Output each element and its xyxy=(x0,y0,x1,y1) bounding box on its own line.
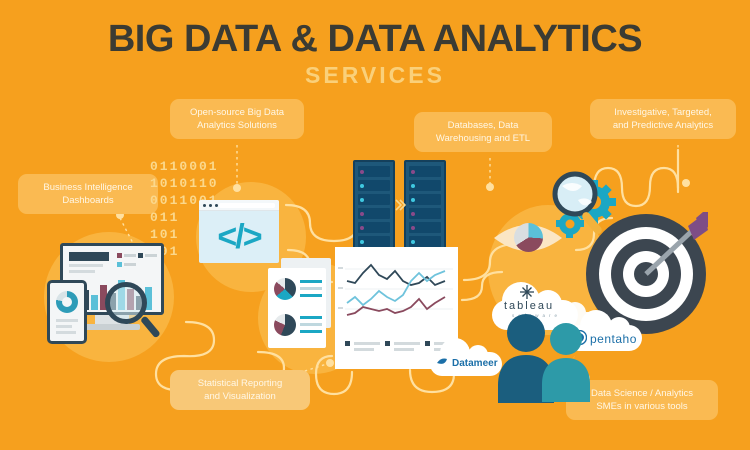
infographic-canvas: BIG DATA & DATA ANALYTICS SERVICES xyxy=(0,0,750,450)
server-slot xyxy=(358,180,390,191)
datameer-logo-text: Datameer xyxy=(452,358,498,369)
legend-text xyxy=(145,254,157,257)
server-slot xyxy=(409,180,441,191)
callout-statistical-reporting[interactable]: Statistical Reporting and Visualization xyxy=(170,370,310,410)
browser-title-bar xyxy=(199,200,279,211)
series-navy xyxy=(347,265,445,285)
code-editor-window: </> xyxy=(199,200,279,263)
callout-line1: Databases, Data xyxy=(423,119,543,132)
sub-title: SERVICES xyxy=(0,64,750,87)
sheet-text-line xyxy=(300,287,322,290)
callout-line1: Statistical Reporting xyxy=(179,377,301,390)
main-title: BIG DATA & DATA ANALYTICS xyxy=(0,20,750,58)
code-brackets-icon: </> xyxy=(199,211,279,263)
chart-legend-swatch xyxy=(345,341,350,346)
tablet-device xyxy=(47,280,87,344)
dashboard-header-bar xyxy=(69,252,109,261)
callout-line1: Open-source Big Data xyxy=(179,106,295,119)
legend-swatch xyxy=(117,262,122,267)
server-transfer-icon xyxy=(394,197,408,213)
server-slot xyxy=(358,194,390,205)
tablet-text-line xyxy=(56,331,76,334)
sheet-pie-bottom xyxy=(274,314,296,336)
server-slot xyxy=(358,236,390,247)
datameer-mark-icon xyxy=(436,356,450,370)
callout-investigative-predictive[interactable]: Investigative, Targeted, and Predictive … xyxy=(590,99,736,139)
sheet-pie-top xyxy=(274,278,296,300)
callout-line2: SMEs in various tools xyxy=(575,400,709,413)
eye-iris-pie xyxy=(514,223,543,252)
callout-line1: Data Science / Analytics xyxy=(575,387,709,400)
tableau-logo-text: tableau xyxy=(504,300,554,312)
trend-line-chart xyxy=(335,247,458,333)
dashboard-subtext xyxy=(69,264,103,267)
monitor-base xyxy=(84,324,140,330)
callout-open-source-big-data[interactable]: Open-source Big Data Analytics Solutions xyxy=(170,99,304,139)
callout-line2: Analytics Solutions xyxy=(179,119,295,132)
tablet-text-line xyxy=(56,325,72,328)
window-dot-icon xyxy=(215,204,218,207)
chart-legend-text xyxy=(394,342,420,345)
donut-hole xyxy=(62,297,72,307)
tablet-text-line xyxy=(56,319,78,322)
window-dot-icon xyxy=(203,204,206,207)
callout-line2: Dashboards xyxy=(27,194,149,207)
server-rack-right xyxy=(404,160,446,253)
chart-legend-text xyxy=(394,348,414,351)
tableau-mark-icon xyxy=(519,284,535,300)
callout-business-intelligence-dashboards[interactable]: Business Intelligence Dashboards xyxy=(18,174,158,214)
callout-databases-warehousing-etl[interactable]: Databases, Data Warehousing and ETL xyxy=(414,112,552,152)
cloud-puff xyxy=(564,302,586,324)
pentaho-logo-text: pentaho xyxy=(590,332,637,346)
sheet-text-line xyxy=(300,330,322,333)
binary-row: 1010110 xyxy=(150,175,219,192)
server-slot xyxy=(358,222,390,233)
server-slot xyxy=(409,222,441,233)
callout-line1: Business Intelligence xyxy=(27,181,149,194)
sheet-text-line xyxy=(300,294,322,297)
binary-row: 0110001 xyxy=(150,158,219,175)
server-slot xyxy=(409,208,441,219)
callout-line2: and Predictive Analytics xyxy=(599,119,727,132)
chart-legend-swatch xyxy=(385,341,390,346)
sheet-text-line xyxy=(300,323,322,326)
report-sheet-front xyxy=(268,268,326,348)
sheet-text-line xyxy=(300,280,322,283)
person-silhouette-back xyxy=(540,322,592,402)
callout-line2: Warehousing and ETL xyxy=(423,132,543,145)
bar xyxy=(91,295,98,310)
chart-legend-text xyxy=(354,348,374,351)
page-title: BIG DATA & DATA ANALYTICS SERVICES xyxy=(0,20,750,87)
callout-line2: and Visualization xyxy=(179,390,301,403)
server-rack-left xyxy=(353,160,395,253)
server-slot xyxy=(358,166,390,177)
chart-legend-text xyxy=(354,342,380,345)
server-slot xyxy=(409,166,441,177)
window-dot-icon xyxy=(209,204,212,207)
server-slot xyxy=(409,194,441,205)
legend-swatch xyxy=(138,253,143,258)
server-slot xyxy=(409,236,441,247)
server-slot xyxy=(358,208,390,219)
browser-address-bar[interactable] xyxy=(219,203,275,208)
legend-text xyxy=(124,263,136,266)
callout-line1: Investigative, Targeted, xyxy=(599,106,727,119)
chart-legend-swatch xyxy=(425,341,430,346)
legend-text xyxy=(124,254,136,257)
dashboard-subtext xyxy=(69,270,95,273)
series-lightblue xyxy=(347,271,445,305)
legend-swatch xyxy=(117,253,122,258)
sheet-text-line xyxy=(300,316,322,319)
